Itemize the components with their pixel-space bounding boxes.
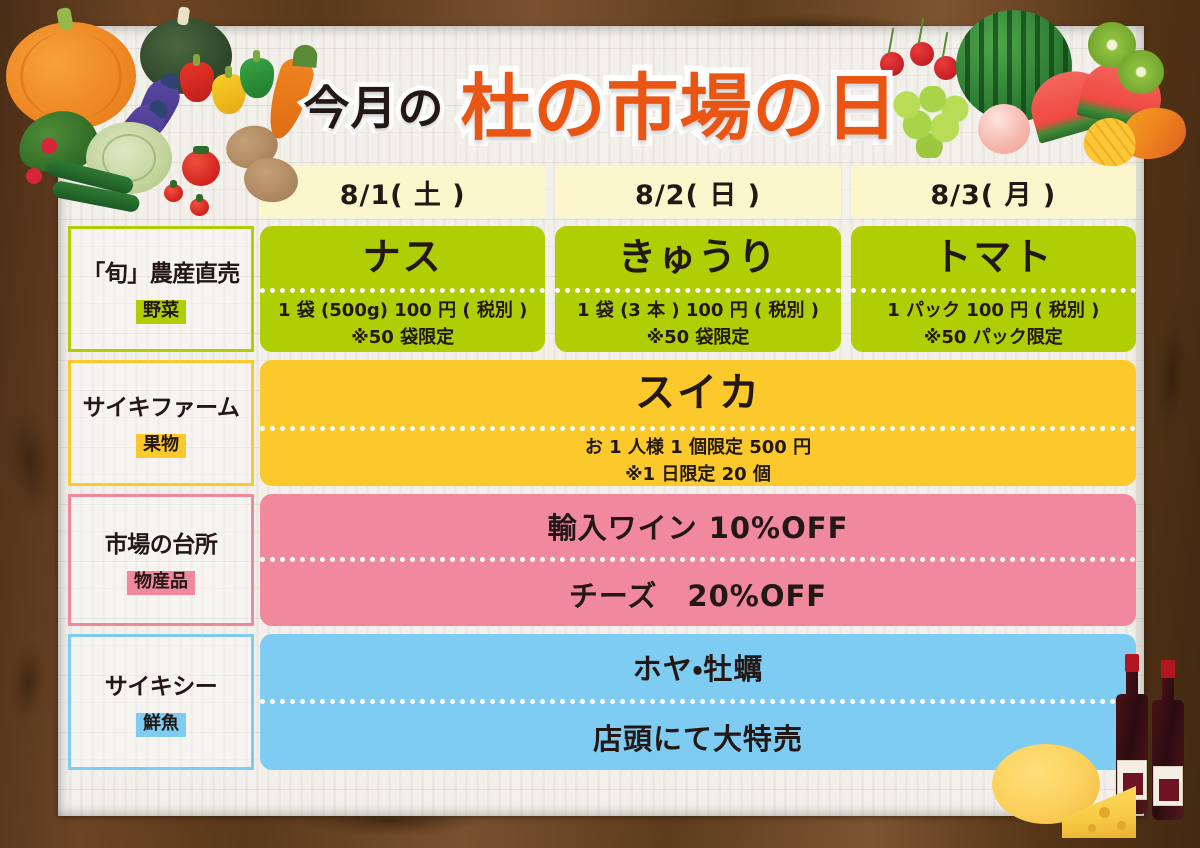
wood-knot-icon (0, 397, 64, 523)
promo-product-name: トマト (851, 226, 1136, 288)
wood-knot-icon (6, 638, 51, 725)
promo-cell-tomato[interactable]: トマト 1 パック 100 円 ( 税別 ) ※50 パック限定 (851, 226, 1136, 352)
table-row-fruit: サイキファーム 果物 スイカ お 1 人様 1 個限定 500 円 ※1 日限定… (68, 360, 1136, 486)
wine-bottle-icon (1152, 700, 1184, 820)
vendor-label-fish: サイキシー 鮮魚 (68, 634, 254, 770)
promo-cell-suika[interactable]: スイカ お 1 人様 1 個限定 500 円 ※1 日限定 20 個 (260, 360, 1136, 486)
promo-detail-limit: ※50 袋限定 (647, 324, 750, 351)
poster-root: 今月の 杜の市場の日 8/1( 土 ) 8/2( 日 ) 8/3( 月 ) 「旬… (0, 0, 1200, 848)
cheese-hole-icon (1117, 821, 1126, 830)
table-header-row: 8/1( 土 ) 8/2( 日 ) 8/3( 月 ) (68, 166, 1136, 218)
promo-line-sale: 店頭にて大特売 (260, 704, 1136, 770)
vendor-label-fruit: サイキファーム 果物 (68, 360, 254, 486)
promo-detail-price: 1 袋 (500g) 100 円 ( 税別 ) (278, 297, 527, 324)
vendor-name: 「旬」農産直売 (82, 254, 240, 288)
row-cells-vegetable: ナス 1 袋 (500g) 100 円 ( 税別 ) ※50 袋限定 きゅうり … (260, 226, 1136, 352)
wood-knot-icon (1147, 299, 1197, 451)
row-cells-fruit: スイカ お 1 人様 1 個限定 500 円 ※1 日限定 20 個 (260, 360, 1136, 486)
cheese-hole-icon (1088, 824, 1096, 832)
vendor-category: 物産品 (127, 571, 195, 595)
promo-product-name: きゅうり (555, 226, 840, 288)
promo-cell-nasu[interactable]: ナス 1 袋 (500g) 100 円 ( 税別 ) ※50 袋限定 (260, 226, 545, 352)
promo-detail: お 1 人様 1 個限定 500 円 ※1 日限定 20 個 (260, 431, 1136, 486)
promo-detail-limit: ※50 袋限定 (351, 324, 454, 351)
promo-detail-limit: ※50 パック限定 (924, 324, 1063, 351)
header-spacer (68, 166, 254, 218)
vendor-name: サイキファーム (83, 388, 240, 422)
wine-label-icon (1153, 766, 1183, 806)
vendor-label-goods: 市場の台所 物産品 (68, 494, 254, 626)
promo-detail-price: 1 パック 100 円 ( 税別 ) (887, 297, 1099, 324)
promo-detail: 1 袋 (500g) 100 円 ( 税別 ) ※50 袋限定 (260, 293, 545, 352)
table-row-goods: 市場の台所 物産品 輸入ワイン 10%OFF チーズ 20%OFF (68, 494, 1136, 626)
vendor-name: サイキシー (105, 667, 218, 701)
promo-detail-limit: ※1 日限定 20 個 (625, 461, 771, 487)
promo-detail: 1 パック 100 円 ( 税別 ) ※50 パック限定 (851, 293, 1136, 352)
date-header-3: 8/3( 月 ) (851, 166, 1136, 218)
vendor-category: 鮮魚 (136, 713, 186, 737)
vendor-name: 市場の台所 (105, 525, 218, 559)
table-row-fish: サイキシー 鮮魚 ホヤ・牡蠣 店頭にて大特売 (68, 634, 1136, 770)
vendor-category: 果物 (136, 434, 186, 458)
promo-line-cheese: チーズ 20%OFF (260, 562, 1136, 626)
row-cells-goods: 輸入ワイン 10%OFF チーズ 20%OFF (260, 494, 1136, 626)
radish-icon (41, 138, 57, 154)
promo-cell-fish[interactable]: ホヤ・牡蠣 店頭にて大特売 (260, 634, 1136, 770)
promo-cell-goods[interactable]: 輸入ワイン 10%OFF チーズ 20%OFF (260, 494, 1136, 626)
date-header-1: 8/1( 土 ) (260, 166, 545, 218)
schedule-table: 8/1( 土 ) 8/2( 日 ) 8/3( 月 ) 「旬」農産直売 野菜 ナス… (68, 166, 1136, 778)
promo-line-wine: 輸入ワイン 10%OFF (260, 494, 1136, 557)
promo-detail: 1 袋 (3 本 ) 100 円 ( 税別 ) ※50 袋限定 (555, 293, 840, 352)
promo-detail-price: お 1 人様 1 個限定 500 円 (585, 434, 811, 461)
vendor-label-vegetable: 「旬」農産直売 野菜 (68, 226, 254, 352)
promo-product-name: ナス (260, 226, 545, 288)
promo-product-name: スイカ (260, 360, 1136, 426)
radish-icon (26, 168, 42, 184)
date-header-2: 8/2( 日 ) (555, 166, 840, 218)
table-row-vegetable: 「旬」農産直売 野菜 ナス 1 袋 (500g) 100 円 ( 税別 ) ※5… (68, 226, 1136, 352)
row-cells-fish: ホヤ・牡蠣 店頭にて大特売 (260, 634, 1136, 770)
vendor-category: 野菜 (136, 300, 186, 324)
promo-detail-price: 1 袋 (3 本 ) 100 円 ( 税別 ) (577, 297, 819, 324)
promo-cell-kyuri[interactable]: きゅうり 1 袋 (3 本 ) 100 円 ( 税別 ) ※50 袋限定 (555, 226, 840, 352)
promo-line-seafood: ホヤ・牡蠣 (260, 634, 1136, 699)
